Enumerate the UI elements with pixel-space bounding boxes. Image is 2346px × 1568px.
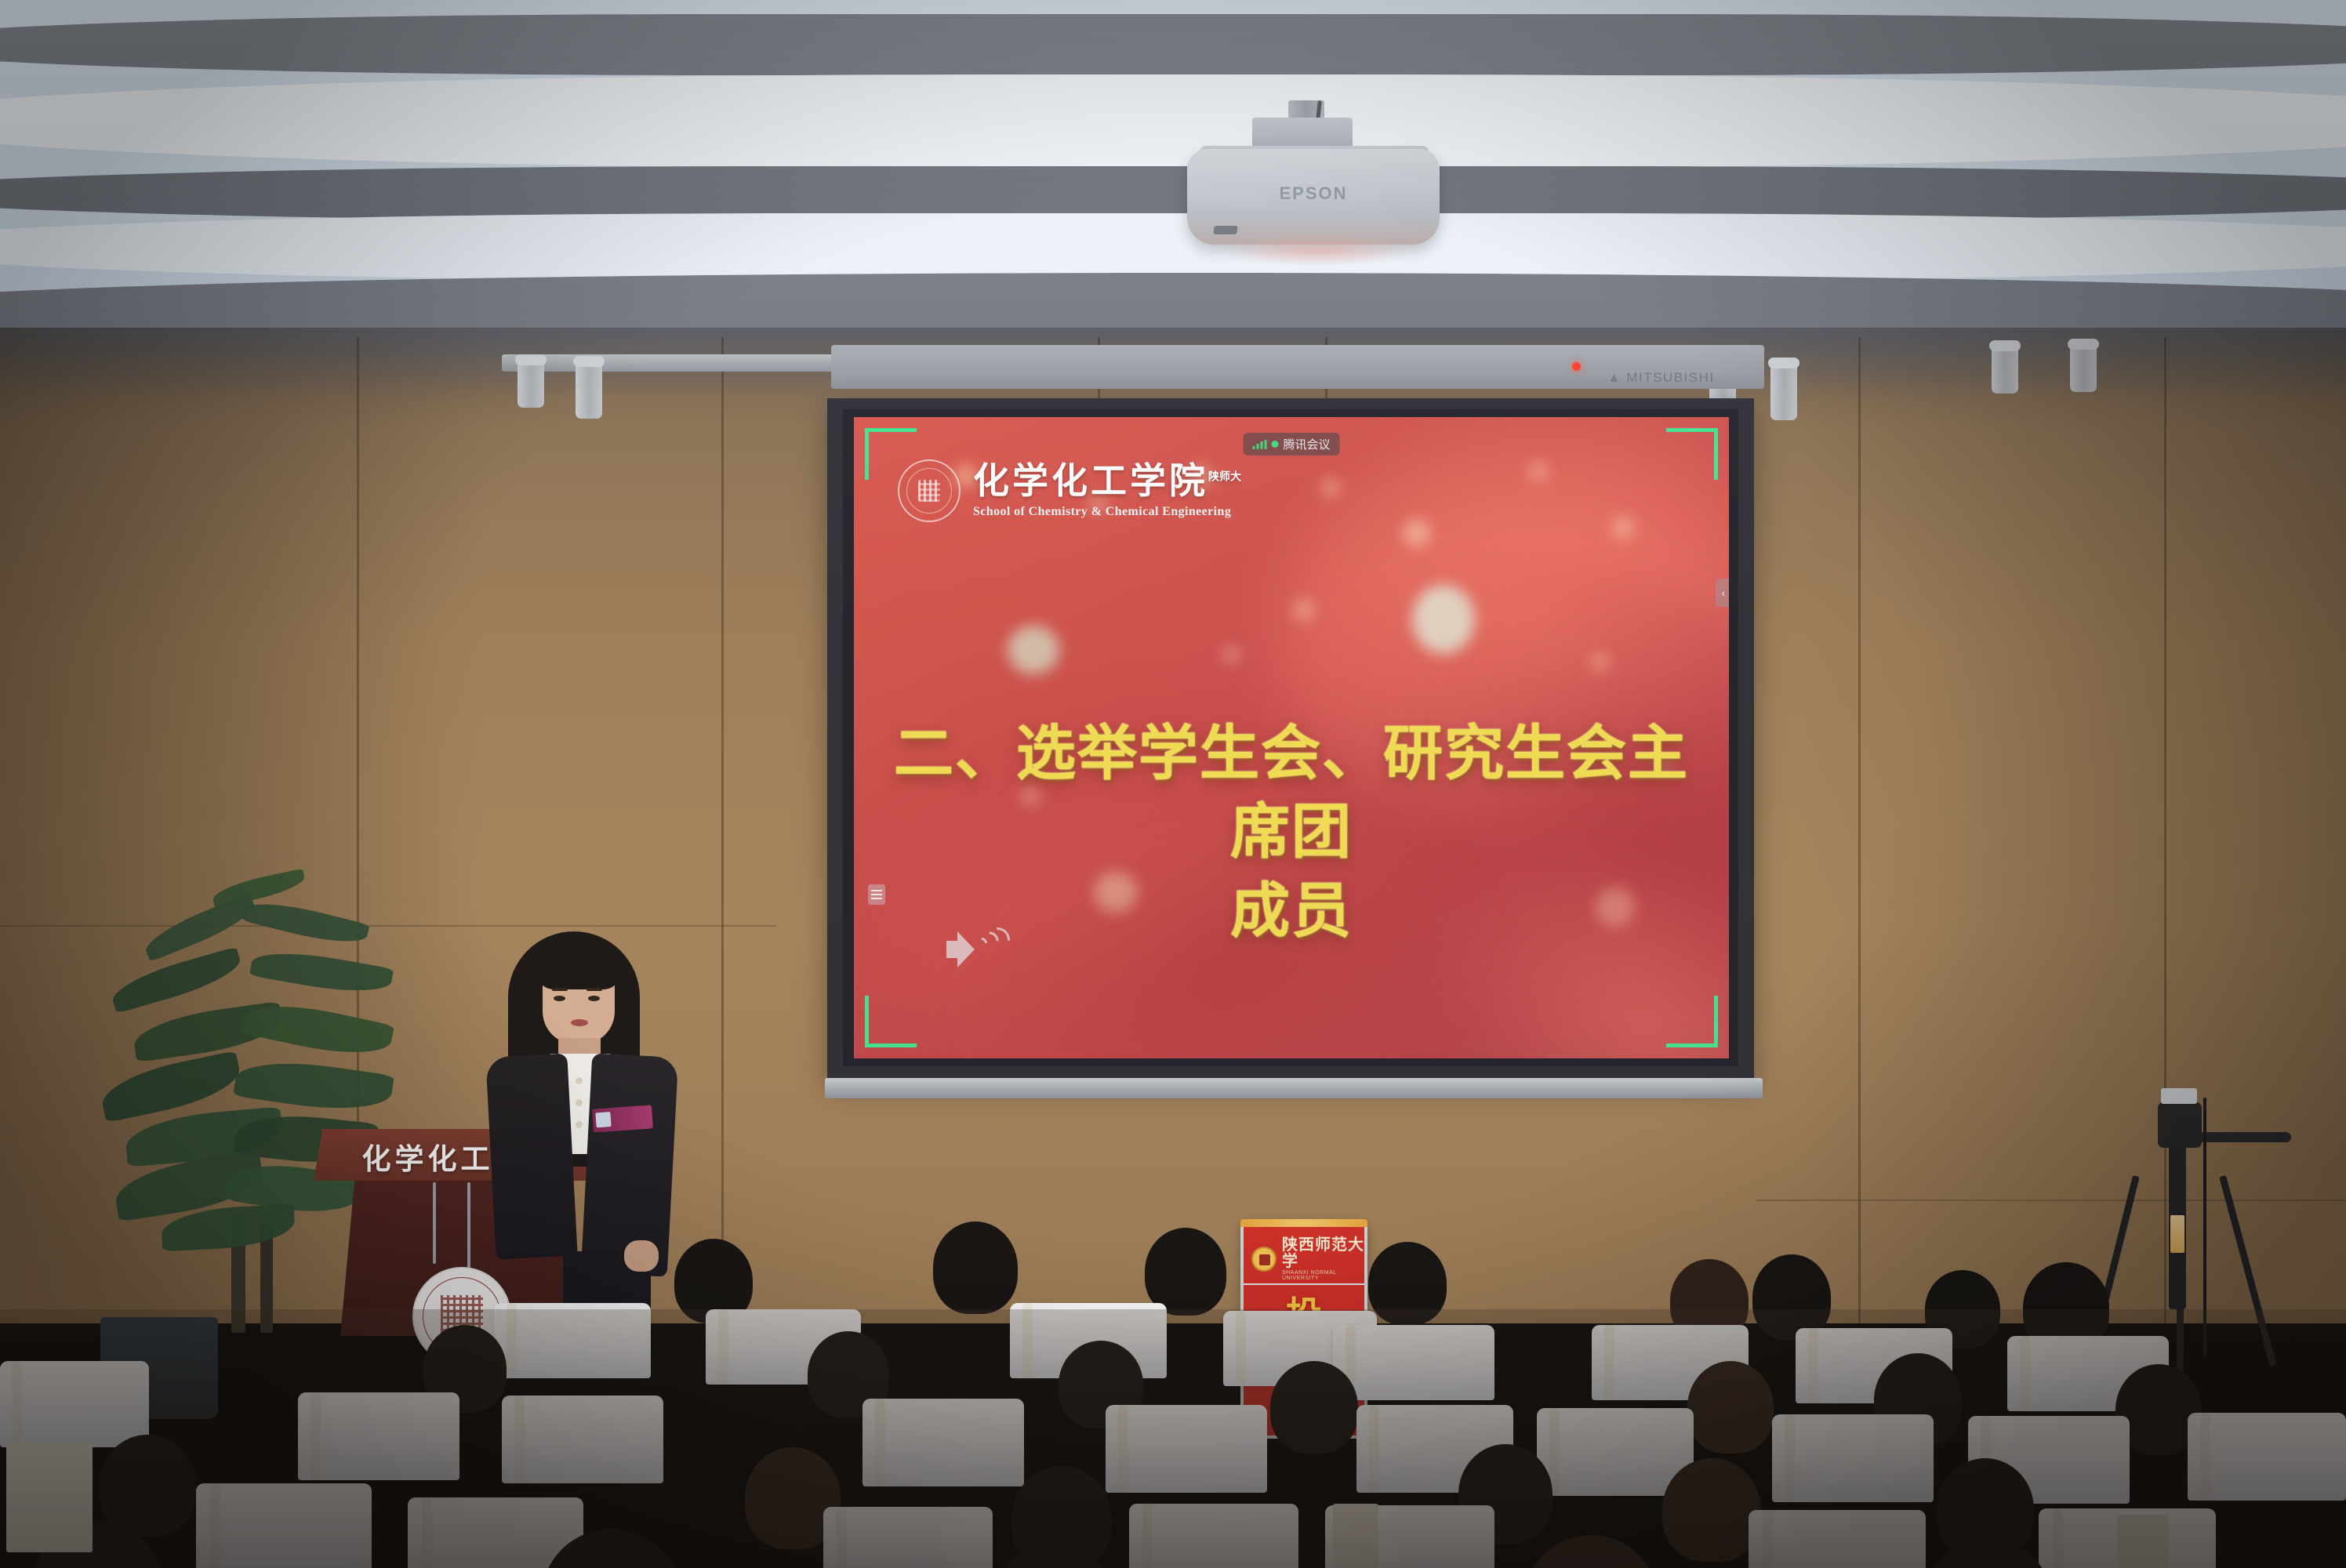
wall-shadow-right bbox=[1797, 328, 2346, 1323]
audience-head bbox=[1368, 1242, 1447, 1325]
chair bbox=[196, 1483, 372, 1568]
chevron-left-icon[interactable]: ‹ bbox=[1716, 579, 1729, 607]
ceiling-haze bbox=[0, 0, 2346, 337]
slide-logo-superscript: 陕师大 bbox=[1208, 471, 1241, 483]
slide-bokeh bbox=[1528, 461, 1549, 481]
slide-logo: 化学化工学院陕师大 School of Chemistry & Chemical… bbox=[898, 459, 1241, 522]
slide-bokeh bbox=[1412, 585, 1475, 654]
slide-bokeh bbox=[1591, 652, 1610, 671]
slide-logo-name-en: School of Chemistry & Chemical Engineeri… bbox=[973, 505, 1241, 519]
audience-head bbox=[99, 1435, 196, 1537]
presentation-slide[interactable]: 腾讯会议 化学化工学院陕师大 School of Chemistry & Che… bbox=[854, 417, 1729, 1058]
projector-lens-glow bbox=[1223, 235, 1411, 267]
slide-bokeh bbox=[1321, 478, 1340, 497]
name-badge-icon bbox=[592, 1105, 653, 1132]
chair bbox=[1749, 1510, 1926, 1568]
meeting-app-label: 腾讯会议 bbox=[1283, 436, 1330, 452]
slide-bokeh bbox=[1403, 519, 1431, 547]
tote-bag bbox=[1333, 1504, 1378, 1568]
ceiling bbox=[0, 0, 2346, 337]
audience-head bbox=[1662, 1458, 1761, 1562]
slide-bokeh bbox=[1222, 646, 1240, 663]
signal-bars-icon bbox=[1252, 440, 1266, 449]
slide-title-line-1: 二、选举学生会、研究生会主席团 bbox=[893, 715, 1690, 873]
tote-bag bbox=[2117, 1515, 2169, 1568]
mitsubishi-logo-icon: ▲ bbox=[1607, 370, 1621, 386]
university-seal-icon bbox=[898, 459, 961, 522]
slide-title-line-2: 成员 bbox=[893, 873, 1690, 951]
chair bbox=[2188, 1413, 2346, 1501]
wall-seam bbox=[721, 337, 724, 1325]
ac-status-led-icon bbox=[1572, 362, 1581, 371]
ceiling-spotlight bbox=[1770, 362, 1797, 420]
audio-speaker-icon[interactable] bbox=[946, 928, 992, 974]
chair bbox=[0, 1361, 149, 1447]
projector-vent bbox=[1213, 226, 1238, 234]
chair bbox=[1106, 1405, 1267, 1493]
menu-handle-icon[interactable] bbox=[868, 884, 885, 905]
audience-head bbox=[1921, 1538, 2054, 1568]
chair bbox=[1333, 1325, 1494, 1400]
chair bbox=[502, 1396, 663, 1483]
slide-bokeh bbox=[1008, 626, 1059, 674]
tencent-meeting-indicator[interactable]: 腾讯会议 bbox=[1243, 433, 1339, 456]
chair bbox=[494, 1303, 651, 1378]
audience-head bbox=[1270, 1361, 1358, 1454]
projection-screen-bottom-bar bbox=[825, 1078, 1763, 1098]
audience-seating bbox=[0, 1207, 2346, 1568]
slide-title: 二、选举学生会、研究生会主席团 成员 bbox=[893, 715, 1690, 951]
chair bbox=[298, 1392, 459, 1480]
ceiling-spotlight bbox=[576, 361, 602, 419]
audience-head bbox=[933, 1221, 1018, 1314]
slide-bokeh bbox=[1611, 516, 1635, 539]
ceiling-spotlight bbox=[517, 359, 544, 408]
auditorium-scene: EPSON ▲MITSUBISHI bbox=[0, 0, 2346, 1568]
projector-brand-label: EPSON bbox=[1187, 183, 1440, 204]
slide-bokeh bbox=[1293, 599, 1315, 621]
tote-bag bbox=[6, 1443, 93, 1552]
recording-dot-icon bbox=[1271, 441, 1278, 448]
slide-logo-name-cn: 化学化工学院陕师大 bbox=[973, 463, 1241, 499]
audience-head bbox=[1687, 1361, 1774, 1454]
chair bbox=[1772, 1414, 1934, 1502]
ac-brand-label: ▲MITSUBISHI bbox=[1607, 370, 1715, 386]
audience-head bbox=[1521, 1535, 1661, 1568]
chair bbox=[862, 1399, 1024, 1486]
chair bbox=[823, 1507, 993, 1568]
chair bbox=[1129, 1504, 1298, 1568]
